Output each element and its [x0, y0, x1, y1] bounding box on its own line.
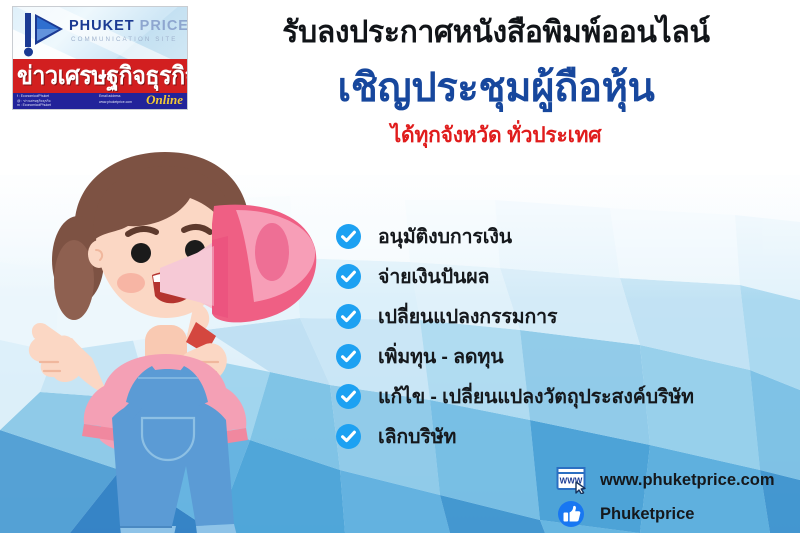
- check-circle-icon: [336, 344, 361, 369]
- checklist-item-label: แก้ไข - เปลี่ยนแปลงวัตถุประสงค์บริษัท: [378, 381, 694, 412]
- check-circle-icon: [336, 224, 361, 249]
- browser-www-icon: WWW: [556, 466, 588, 494]
- footer-contact-links: WWW www.phuketprice.com Phuketprice: [556, 463, 775, 531]
- website-link-row[interactable]: WWW www.phuketprice.com: [556, 463, 775, 497]
- check-circle-icon: [336, 264, 361, 289]
- check-circle-icon: [336, 304, 361, 329]
- logo-mini-line-3: m : EconomicofPhuket: [17, 103, 51, 108]
- check-circle-icon: [336, 384, 361, 409]
- poster-canvas: PHUKET PRICE COMMUNICATION SITE ข่าวเศรษ…: [0, 0, 800, 533]
- checklist-item-label: จ่ายเงินปันผล: [378, 261, 489, 292]
- check-circle-icon: [336, 424, 361, 449]
- logo-mini-email-label: Email address: [99, 94, 120, 99]
- logo-mini-website: www.phuketprice.com: [99, 100, 132, 105]
- checklist-item-label: เปลี่ยนแปลงกรรมการ: [378, 301, 557, 332]
- checklist-item-label: เพิ่มทุน - ลดทุน: [378, 341, 503, 372]
- facebook-link-row[interactable]: Phuketprice: [556, 497, 775, 531]
- headline-text: รับลงประกาศหนังสือพิมพ์ออนไลน์: [198, 14, 794, 52]
- logo-tagline: COMMUNICATION SITE: [71, 36, 177, 43]
- logo-wordmark: PHUKET PRICE: [69, 18, 187, 34]
- checklist-item: เปลี่ยนแปลงกรรมการ: [336, 296, 694, 336]
- logo-red-banner: ข่าวเศรษฐกิจธุรกิจ: [13, 59, 187, 93]
- girl-with-megaphone-illustration: [0, 140, 340, 533]
- header-area: PHUKET PRICE COMMUNICATION SITE ข่าวเศรษ…: [0, 0, 800, 150]
- logo-online-label: Online: [146, 93, 183, 108]
- checklist-item: แก้ไข - เปลี่ยนแปลงวัตถุประสงค์บริษัท: [336, 376, 694, 416]
- subtitle-text: ได้ทุกจังหวัด ทั่วประเทศ: [198, 122, 794, 150]
- logo-thai-banner-text: ข่าวเศรษฐกิจธุรกิจ: [17, 60, 171, 92]
- logo-brand-secondary: PRICE: [140, 18, 187, 34]
- website-label: www.phuketprice.com: [600, 471, 775, 490]
- checklist-item: อนุมัติงบการเงิน: [336, 216, 694, 256]
- main-title-text: เชิญประชุมผู้ถือหุ้น: [198, 62, 794, 114]
- checklist-item: เลิกบริษัท: [336, 416, 694, 456]
- logo-k-mark: [23, 11, 65, 57]
- phuket-price-logo[interactable]: PHUKET PRICE COMMUNICATION SITE ข่าวเศรษ…: [12, 6, 188, 110]
- facebook-thumbs-up-icon: [556, 500, 588, 528]
- logo-contact-bar: f : EconomicofPhuket @ : ข่าวเศรษฐกิจธุร…: [13, 93, 187, 109]
- checklist-item: จ่ายเงินปันผล: [336, 256, 694, 296]
- service-checklist: อนุมัติงบการเงิน จ่ายเงินปันผล เปลี่ยนแป…: [336, 216, 694, 456]
- logo-brand-primary: PHUKET: [69, 18, 135, 34]
- checklist-item: เพิ่มทุน - ลดทุน: [336, 336, 694, 376]
- checklist-item-label: เลิกบริษัท: [378, 421, 456, 452]
- logo-top-panel: PHUKET PRICE COMMUNICATION SITE: [13, 7, 187, 59]
- checklist-item-label: อนุมัติงบการเงิน: [378, 221, 512, 252]
- facebook-label: Phuketprice: [600, 505, 694, 524]
